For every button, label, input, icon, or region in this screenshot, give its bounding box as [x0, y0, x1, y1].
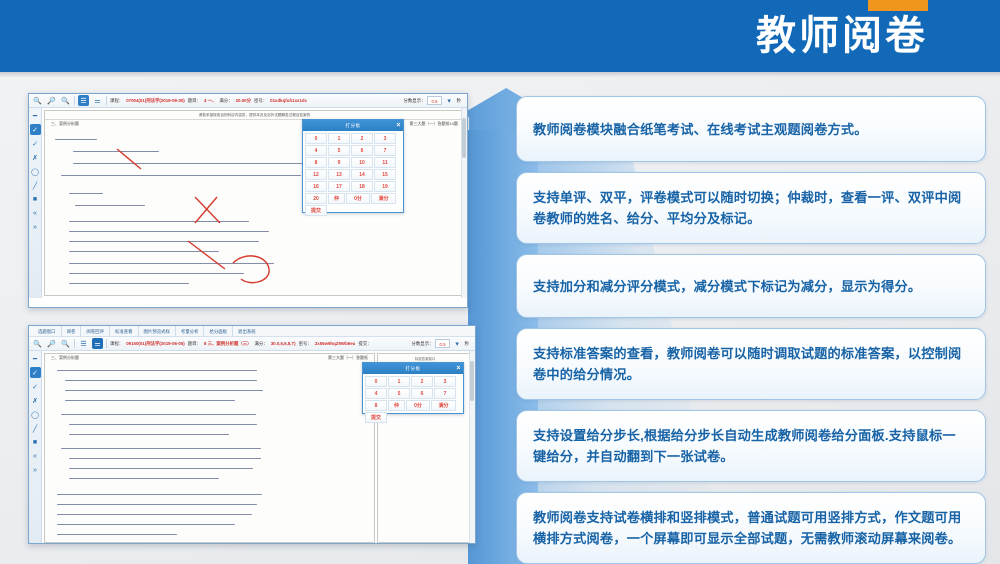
callout-text: 支持单评、双平，评卷模式可以随时切换；仲裁时，查看一评、双评中阅卷教师的姓名、给…	[533, 187, 969, 229]
toolbar-divider	[74, 96, 75, 105]
toolbar-divider	[106, 96, 107, 105]
step-label: 分数显示：	[412, 340, 434, 348]
keypad-titlebar: 打分板 ×	[303, 120, 403, 131]
step-label: 分数显示：	[404, 97, 426, 105]
zoom-out-icon[interactable]: 🔎	[46, 338, 57, 349]
course-label: 课程：	[110, 340, 123, 348]
keypad-key[interactable]: 5	[388, 388, 410, 399]
grader-value: 2x55w9hqZ9Wb6eu	[315, 340, 356, 348]
grading-app-window-top: 🔍 🔎 🔍 ☰ ⚌ 课程： 07004(01)刑法学(2019-09-30) 题…	[28, 93, 468, 308]
menu-item-grade[interactable]: 阅卷	[62, 326, 82, 337]
page-title: 教师阅卷	[756, 12, 928, 60]
keypad-key-arbitration[interactable]: 仲	[388, 400, 405, 411]
scrollbar-thumb[interactable]	[462, 118, 466, 158]
keypad-key[interactable]: 4	[305, 145, 327, 156]
keypad-key[interactable]: 12	[305, 169, 327, 180]
answer-sheet-bottom[interactable]: 三、案例分析题 第三大题（一）答题纸	[44, 353, 375, 543]
keypad-key[interactable]: 17	[328, 181, 350, 192]
sheet-subheader: 三、案例分析题 第三大题（一）答题纸	[45, 354, 374, 362]
keypad-titlebar: 打分板 ×	[363, 363, 463, 374]
menu-item-exam-analysis[interactable]: 考量分析	[176, 326, 205, 337]
menu-item-image-preview[interactable]: 图片预览式样	[139, 326, 176, 337]
keypad-key[interactable]: 6	[351, 145, 373, 156]
grader-label: 密号：	[299, 340, 312, 348]
callout-item: 支持标准答案的查看，教师阅卷可以随时调取试题的标准答案，以控制阅卷中的给分情况。	[516, 328, 986, 400]
question-value: 4 一、	[204, 97, 216, 105]
annotation-tool-rail-bottom: ━ ✓ ✓ ✗ ◯ ╱ ■ « »	[29, 351, 42, 544]
grader-value: 01xdkqfuh1xs1dc	[270, 97, 307, 105]
submit-button[interactable]: 提交	[365, 412, 387, 423]
callout-item: 支持设置给分步长,根据给分步长自动生成教师阅卷给分面板.支持鼠标一键给分，并自动…	[516, 410, 986, 482]
sheet-right-label: 第三大题（一）答题纸14题	[410, 121, 458, 127]
window-body-bottom: ━ ✓ ✓ ✗ ◯ ╱ ■ « » 三、案例分析题 第三大题（一）答题纸	[29, 351, 475, 544]
keypad-key[interactable]: 3	[374, 133, 396, 144]
keypad-key[interactable]: 5	[328, 145, 350, 156]
score-value: 20.00分	[236, 97, 251, 105]
score-label: 满分：	[255, 340, 268, 348]
pen-icon[interactable]: ╱	[30, 180, 41, 191]
menu-item-review[interactable]: 阅卷回评	[81, 326, 110, 337]
half-check-icon[interactable]: ✓	[30, 138, 41, 149]
callout-item: 支持单评、双平，评卷模式可以随时切换；仲裁时，查看一评、双评中阅卷教师的姓名、给…	[516, 172, 986, 244]
menu-item-score-panel[interactable]: 给分面板	[204, 326, 233, 337]
header-accent-bar	[868, 0, 928, 11]
step-input[interactable]: 0.5	[427, 96, 441, 105]
vertical-scrollbar-bottom[interactable]	[469, 351, 475, 544]
next-page-icon[interactable]: »	[30, 222, 41, 233]
keypad-key-zero[interactable]: 0分	[346, 193, 370, 204]
page-header: 教师阅卷	[0, 0, 1000, 72]
unit-label: 秒	[465, 340, 469, 348]
keypad-key[interactable]: 10	[351, 157, 373, 168]
callout-text: 支持标准答案的查看，教师阅卷可以随时调取试题的标准答案，以控制阅卷中的给分情况。	[533, 343, 969, 385]
check-icon[interactable]: ✓	[30, 367, 41, 378]
minus-icon[interactable]: ━	[30, 353, 41, 364]
keypad-title: 打分板	[345, 123, 360, 129]
keypad-key-zero[interactable]: 0分	[406, 400, 430, 411]
sheet-right-label: 第三大题（一）答题纸	[328, 355, 368, 361]
close-icon[interactable]: ×	[456, 363, 461, 374]
callout-text: 支持加分和减分评分模式，减分模式下标记为减分，显示为得分。	[533, 276, 921, 297]
keypad-key[interactable]: 11	[374, 157, 396, 168]
menu-item-select-window[interactable]: 选题窗口	[33, 326, 62, 337]
keypad-key[interactable]: 18	[351, 181, 373, 192]
submit-button[interactable]: 提交	[305, 205, 327, 216]
keypad-key[interactable]: 8	[365, 400, 387, 411]
keypad-key[interactable]: 13	[328, 169, 350, 180]
circle-icon[interactable]: ◯	[30, 409, 41, 420]
prev-page-icon[interactable]: «	[30, 451, 41, 462]
score-value: 30.0,5,6,8,T)	[271, 340, 296, 348]
keypad-key[interactable]: 15	[374, 169, 396, 180]
keypad-key[interactable]: 0	[305, 133, 327, 144]
keypad-key[interactable]: 20	[305, 193, 327, 204]
keypad-key[interactable]: 8	[305, 157, 327, 168]
keypad-key[interactable]: 2	[351, 133, 373, 144]
sheet-left-label: 三、案例分析题	[51, 355, 79, 361]
keypad-key[interactable]: 7	[434, 388, 456, 399]
zoom-out-icon[interactable]: 🔎	[46, 95, 57, 106]
grading-app-window-bottom: 选题窗口 阅卷 阅卷回评 标准查看 图片预览式样 考量分析 给分面板 退出系统 …	[28, 325, 476, 544]
cross-icon[interactable]: ✗	[30, 395, 41, 406]
toolbar-right-group: 分数显示： 0.5 ▾ 秒	[404, 95, 464, 106]
toolbar-divider	[106, 339, 107, 348]
keypad-key[interactable]: 3	[434, 376, 456, 387]
check-icon[interactable]: ✓	[30, 124, 41, 135]
score-keypad-bottom[interactable]: 打分板 × 0 1 2 3 4 5 6 7 8 仲 0分 满分 提交	[362, 362, 464, 414]
keypad-key[interactable]: 2	[411, 376, 433, 387]
grid-view-icon[interactable]: ⚌	[92, 338, 103, 349]
next-page-icon[interactable]: »	[30, 465, 41, 476]
callout-text: 教师阅卷支持试卷横排和竖排模式，普通试题可用竖排方式，作文题可用横排方式阅卷，一…	[533, 507, 969, 549]
question-label: 题目：	[188, 97, 201, 105]
window-body-top: ━ ✓ ✓ ✗ ◯ ╱ ■ « » 请各系部按各自的科目内容答，提供本页及另外试…	[29, 108, 467, 298]
minus-icon[interactable]: ━	[30, 110, 41, 121]
question-label: 题目：	[188, 340, 201, 348]
toolbar-bottom: 🔍 🔎 🔍 ☰ ⚌ 课程： 09150(01)刑法学(2019-06-05) 题…	[29, 337, 475, 351]
callout-item: 支持加分和减分评分模式，减分模式下标记为减分，显示为得分。	[516, 254, 986, 318]
keypad-key[interactable]: 7	[374, 145, 396, 156]
menubar-bottom: 选题窗口 阅卷 阅卷回评 标准查看 图片预览式样 考量分析 给分面板 退出系统	[29, 326, 475, 337]
menu-item-standard-view[interactable]: 标准查看	[110, 326, 139, 337]
menu-item-exit[interactable]: 退出系统	[233, 326, 261, 337]
question-value: 8 三、案例分析题（三）	[204, 340, 252, 348]
keypad-key[interactable]: 1	[328, 133, 350, 144]
callout-list: 教师阅卷模块融合纸笔考试、在线考试主观题阅卷方式。 支持单评、双平，评卷模式可以…	[516, 96, 986, 562]
eraser-icon[interactable]: ■	[30, 194, 41, 205]
keypad-key-arbitration[interactable]: 仲	[328, 193, 345, 204]
toolbar-top: 🔍 🔎 🔍 ☰ ⚌ 课程： 07004(01)刑法学(2019-09-30) 题…	[29, 94, 467, 108]
keypad-grid-top: 0 1 2 3 4 5 6 7 8 9 10 11 12 13 14 15 16	[303, 131, 403, 218]
keypad-key-full[interactable]: 满分	[371, 193, 396, 204]
standard-answer-header: 标准答案窗口	[378, 354, 472, 361]
keypad-key[interactable]: 4	[365, 388, 387, 399]
callout-text: 教师阅卷模块融合纸笔考试、在线考试主观题阅卷方式。	[533, 119, 868, 140]
cross-icon[interactable]: ✗	[30, 152, 41, 163]
keypad-key[interactable]: 0	[365, 376, 387, 387]
close-icon[interactable]: ×	[396, 120, 401, 131]
zoom-in-icon[interactable]: 🔍	[32, 338, 43, 349]
list-view-icon[interactable]: ☰	[78, 95, 89, 106]
list-view-icon[interactable]: ☰	[78, 338, 89, 349]
step-input[interactable]: 0.5	[435, 339, 449, 348]
chevron-down-icon[interactable]: ▾	[444, 95, 455, 106]
keypad-key[interactable]: 6	[411, 388, 433, 399]
scrollbar-thumb[interactable]	[470, 361, 474, 401]
keypad-key[interactable]: 9	[328, 157, 350, 168]
unit-label: 秒	[457, 97, 461, 105]
callout-item: 教师阅卷支持试卷横排和竖排模式，普通试题可用竖排方式，作文题可用横排方式阅卷，一…	[516, 492, 986, 564]
slide-root: 教师阅卷 教师阅卷模块融合纸笔考试、在线考试主观题阅卷方式。 支持单评、双平，评…	[0, 0, 1000, 564]
header-shadow	[0, 72, 1000, 77]
half-check-icon[interactable]: ✓	[30, 381, 41, 392]
grid-view-icon[interactable]: ⚌	[92, 95, 103, 106]
prev-page-icon[interactable]: «	[30, 208, 41, 219]
course-value: 07004(01)刑法学(2019-09-30)	[126, 97, 185, 105]
keypad-title: 打分板	[405, 366, 420, 372]
keypad-key[interactable]: 14	[351, 169, 373, 180]
keypad-key[interactable]: 1	[388, 376, 410, 387]
zoom-in-icon[interactable]: 🔍	[32, 95, 43, 106]
zoom-reset-icon[interactable]: 🔍	[60, 338, 71, 349]
keypad-key[interactable]: 19	[374, 181, 396, 192]
course-label: 课程：	[110, 97, 123, 105]
score-keypad-top[interactable]: 打分板 × 0 1 2 3 4 5 6 7 8 9 10 11 12	[302, 119, 404, 213]
callout-text: 支持设置给分步长,根据给分步长自动生成教师阅卷给分面板.支持鼠标一键给分，并自动…	[533, 425, 969, 467]
annotation-tool-rail-top: ━ ✓ ✓ ✗ ◯ ╱ ■ « »	[29, 108, 42, 298]
grader-label: 密号：	[254, 97, 267, 105]
keypad-key-full[interactable]: 满分	[431, 400, 456, 411]
keypad-grid-bottom: 0 1 2 3 4 5 6 7 8 仲 0分 满分 提交	[363, 374, 463, 425]
eraser-icon[interactable]: ■	[30, 437, 41, 448]
pen-icon[interactable]: ╱	[30, 423, 41, 434]
toolbar-right-group: 分数显示： 0.5 ▾ 秒	[412, 338, 472, 349]
circle-icon[interactable]: ◯	[30, 166, 41, 177]
course-value: 09150(01)刑法学(2019-06-05)	[126, 340, 185, 348]
handwriting-overlay	[45, 354, 374, 542]
chevron-down-icon[interactable]: ▾	[452, 338, 463, 349]
score-label: 满分：	[219, 97, 232, 105]
keypad-key[interactable]: 16	[305, 181, 327, 192]
sheet-left-label: 三、案例分析题	[51, 121, 79, 127]
submit-label: 提交：	[358, 340, 371, 348]
vertical-scrollbar-top[interactable]	[461, 108, 467, 298]
zoom-reset-icon[interactable]: 🔍	[60, 95, 71, 106]
toolbar-divider	[74, 339, 75, 348]
callout-item: 教师阅卷模块融合纸笔考试、在线考试主观题阅卷方式。	[516, 96, 986, 162]
